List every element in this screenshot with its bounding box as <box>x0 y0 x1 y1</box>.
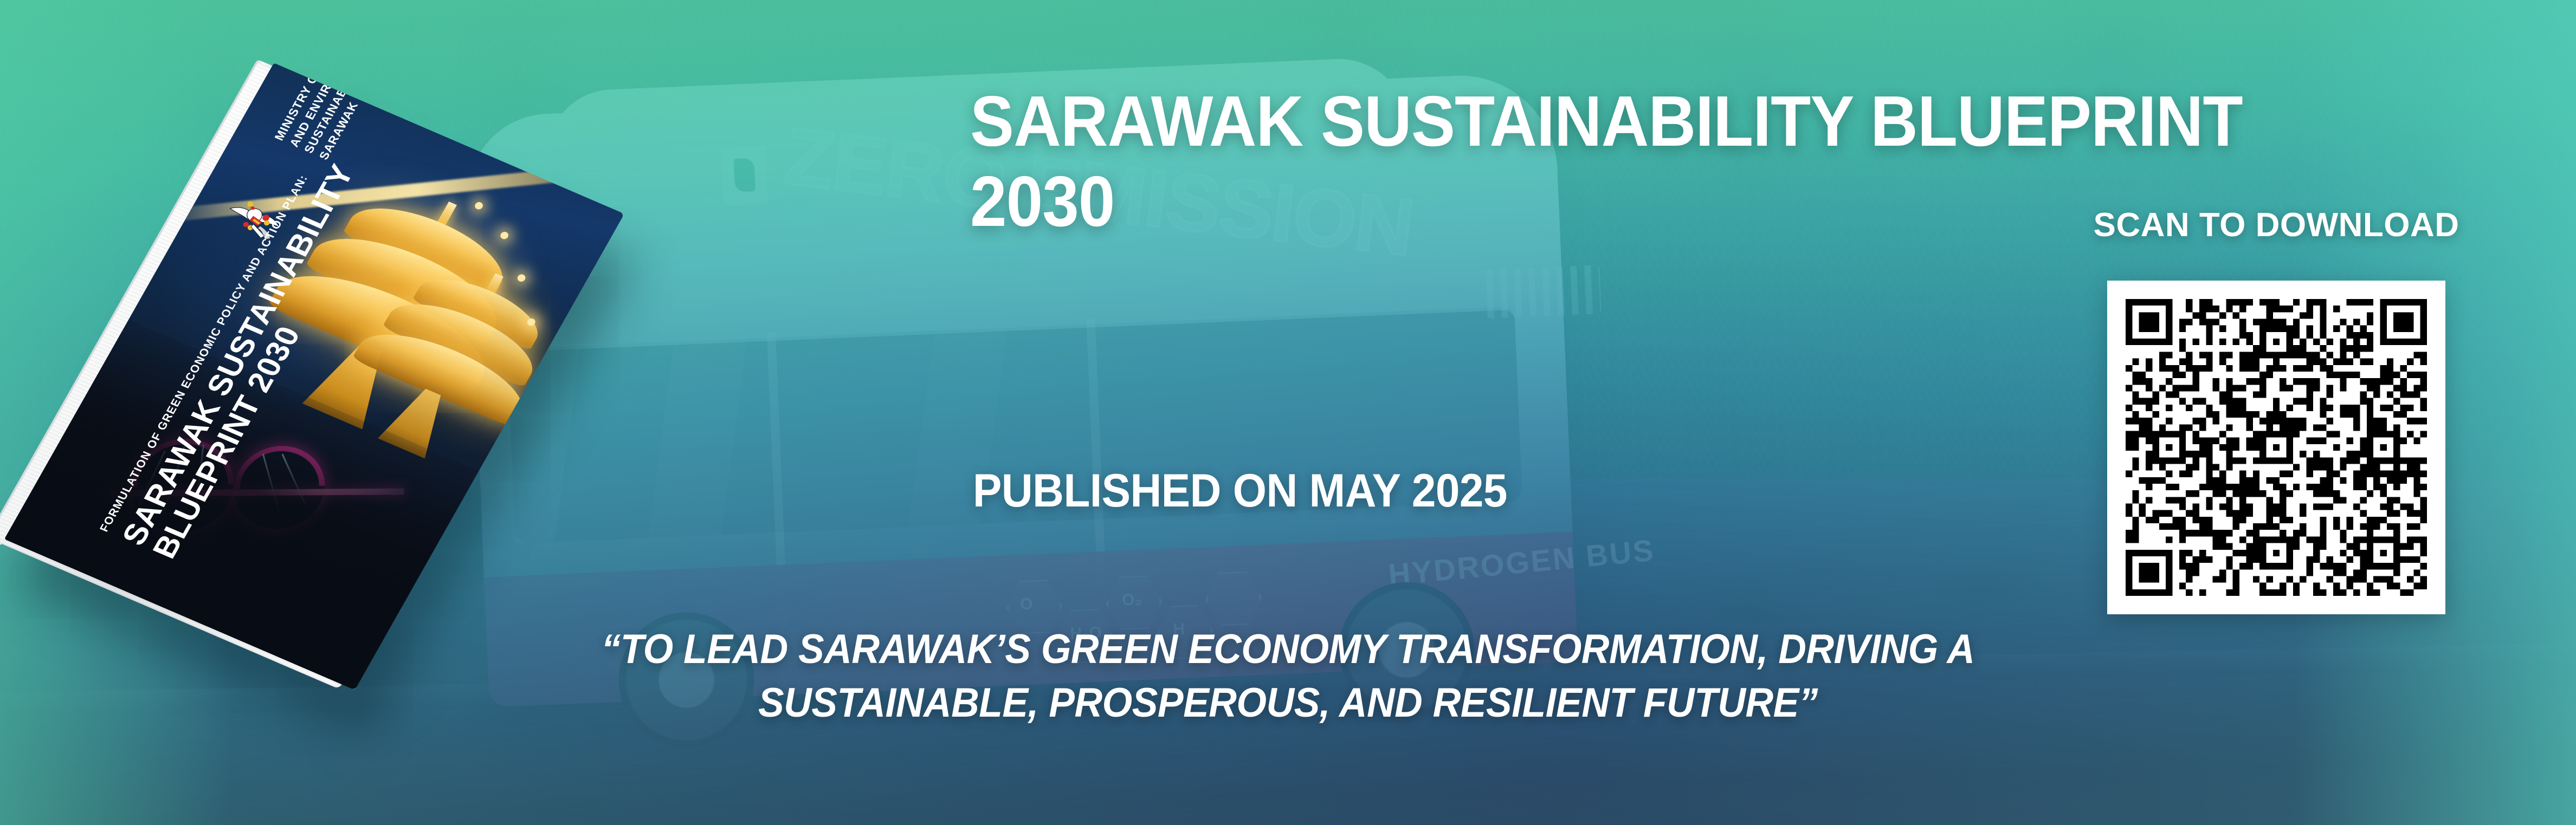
scan-to-download-label: SCAN TO DOWNLOAD <box>2076 206 2477 244</box>
vision-quote: “TO LEAD SARAWAK’S GREEN ECONOMY TRANSFO… <box>78 623 2499 730</box>
book-3d: MINISTRY OF ENERGY AND ENVIRONMENTAL SUS… <box>4 63 624 690</box>
book-mockup: MINISTRY OF ENERGY AND ENVIRONMENTAL SUS… <box>92 76 791 683</box>
qr-code-panel[interactable] <box>2107 281 2445 614</box>
sarawak-sustainability-blueprint-banner: ZERO EMISSION O H₂O O₂ H HYDROGEN BUS <box>0 0 2576 825</box>
qr-code-image[interactable] <box>2126 299 2427 596</box>
published-date: PUBLISHED ON MAY 2025 <box>973 464 1507 518</box>
page-title: SARAWAK SUSTAINABILITY BLUEPRINT 2030 <box>970 81 2267 242</box>
book-cover: MINISTRY OF ENERGY AND ENVIRONMENTAL SUS… <box>4 63 624 690</box>
